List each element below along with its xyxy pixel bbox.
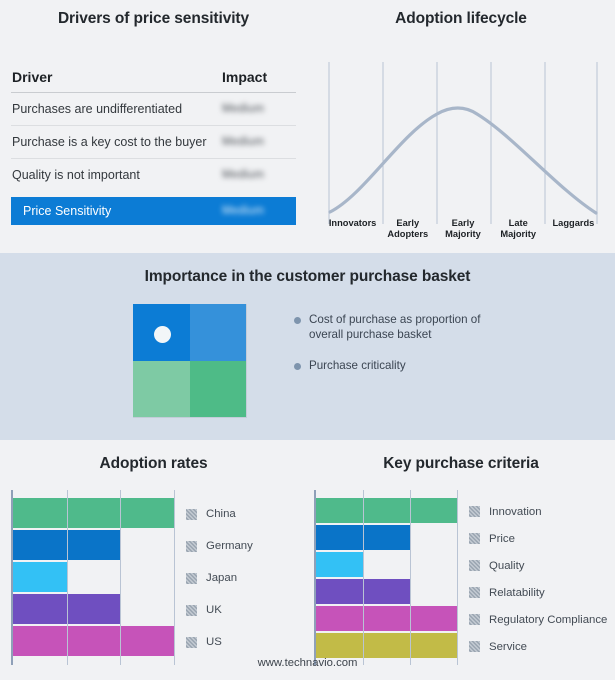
quadrant-top-right[interactable] — [190, 304, 247, 361]
adoption-rates-title: Adoption rates — [0, 455, 307, 473]
impact-value-redacted: Medium — [222, 205, 296, 217]
legend-row[interactable]: Regulatory Compliance — [469, 606, 607, 633]
lifecycle-segment-innovators: Innovators — [325, 218, 380, 242]
legend-row[interactable]: UK — [186, 594, 253, 626]
lifecycle-segment-early-majority: Early Majority — [435, 218, 490, 242]
legend-label: Service — [489, 641, 527, 653]
bar-group — [316, 498, 457, 660]
legend-row[interactable]: Quality — [469, 552, 607, 579]
footer-url: www.technavio.com — [0, 657, 615, 669]
drivers-panel: Drivers of price sensitivity Driver Impa… — [0, 0, 307, 253]
lifecycle-gridlines — [329, 62, 597, 224]
legend-label: UK — [206, 604, 222, 616]
legend-row[interactable]: US — [186, 626, 253, 658]
adoption-plot-area — [11, 490, 174, 665]
quadrant-matrix — [133, 304, 247, 418]
legend-swatch-icon — [469, 560, 480, 571]
impact-value-redacted: Medium — [222, 103, 296, 115]
legend-swatch-icon — [469, 614, 480, 625]
legend-swatch-icon — [186, 509, 197, 520]
gridline — [457, 490, 458, 665]
bar[interactable] — [13, 562, 67, 592]
bar[interactable] — [316, 606, 457, 631]
legend-swatch-icon — [186, 637, 197, 648]
bar[interactable] — [13, 498, 174, 528]
lifecycle-segment-laggards: Laggards — [546, 218, 601, 242]
lifecycle-chart: Innovators Early Adopters Early Majority… — [325, 62, 601, 242]
legend-row[interactable]: Service — [469, 633, 607, 660]
legend-row[interactable]: Price — [469, 525, 607, 552]
legend-swatch-icon — [469, 641, 480, 652]
bullet-icon — [294, 317, 301, 324]
legend-swatch-icon — [186, 605, 197, 616]
adoption-rates-panel: Adoption rates ChinaGermanyJapanUKUS — [0, 440, 307, 680]
legend-row[interactable]: Innovation — [469, 498, 607, 525]
legend-label: Cost of purchase as proportion of overal… — [309, 312, 514, 342]
table-row[interactable]: Quality is not important Medium — [11, 159, 296, 191]
driver-label: Purchase is a key cost to the buyer — [11, 135, 222, 149]
legend-label: US — [206, 636, 222, 648]
criteria-legend: InnovationPriceQualityRelatabilityRegula… — [469, 490, 607, 665]
drivers-table: Driver Impact Purchases are undifferenti… — [11, 62, 296, 225]
column-header-impact: Impact — [222, 69, 296, 85]
legend-label: Quality — [489, 560, 524, 572]
gridline — [67, 490, 68, 665]
table-row[interactable]: Purchases are undifferentiated Medium — [11, 93, 296, 126]
legend-label: Germany — [206, 540, 253, 552]
quadrant-bottom-right[interactable] — [190, 361, 247, 418]
position-marker-dot — [154, 326, 171, 343]
legend-swatch-icon — [469, 533, 480, 544]
legend-swatch-icon — [186, 541, 197, 552]
table-header-row: Driver Impact — [11, 62, 296, 93]
legend-swatch-icon — [186, 573, 197, 584]
bullet-icon — [294, 363, 301, 370]
drivers-title: Drivers of price sensitivity — [0, 10, 307, 28]
column-header-driver: Driver — [11, 69, 222, 85]
basket-legend: Cost of purchase as proportion of overal… — [294, 304, 514, 418]
key-purchase-criteria-panel: Key purchase criteria InnovationPriceQua… — [307, 440, 615, 680]
driver-label: Purchases are undifferentiated — [11, 102, 222, 116]
legend-label: Purchase criticality — [309, 358, 406, 373]
quadrant-top-left[interactable] — [133, 304, 190, 361]
gridline — [174, 490, 175, 665]
gridline — [363, 490, 364, 665]
lifecycle-segment-early-adopters: Early Adopters — [380, 218, 435, 242]
adoption-lifecycle-panel: Adoption lifecycle Innovators Early Adop… — [307, 0, 615, 253]
legend-item: Purchase criticality — [294, 358, 514, 373]
legend-label: Innovation — [489, 506, 542, 518]
legend-row[interactable]: Relatability — [469, 579, 607, 606]
lifecycle-segment-late-majority: Late Majority — [491, 218, 546, 242]
lifecycle-title: Adoption lifecycle — [307, 10, 615, 28]
legend-row[interactable]: Germany — [186, 530, 253, 562]
bar[interactable] — [316, 633, 457, 658]
bell-curve-path — [330, 108, 596, 213]
impact-value-redacted: Medium — [222, 136, 296, 148]
table-row-highlighted[interactable]: Price Sensitivity Medium — [11, 197, 296, 225]
adoption-legend: ChinaGermanyJapanUKUS — [186, 490, 253, 665]
lifecycle-labels: Innovators Early Adopters Early Majority… — [325, 218, 601, 242]
basket-body: Cost of purchase as proportion of overal… — [0, 304, 615, 418]
legend-swatch-icon — [469, 587, 480, 598]
criteria-chart: InnovationPriceQualityRelatabilityRegula… — [307, 490, 615, 665]
criteria-plot-area — [314, 490, 457, 665]
purchase-basket-panel: Importance in the customer purchase bask… — [0, 253, 615, 440]
bar[interactable] — [13, 626, 174, 656]
table-row[interactable]: Purchase is a key cost to the buyer Medi… — [11, 126, 296, 159]
driver-label-highlighted: Price Sensitivity — [22, 204, 222, 218]
legend-item: Cost of purchase as proportion of overal… — [294, 312, 514, 342]
criteria-title: Key purchase criteria — [307, 455, 615, 473]
bar-group — [13, 498, 174, 658]
driver-label: Quality is not important — [11, 168, 222, 182]
gridline — [410, 490, 411, 665]
adoption-rates-chart: ChinaGermanyJapanUKUS — [0, 490, 307, 665]
legend-label: China — [206, 508, 236, 520]
bar[interactable] — [316, 498, 457, 523]
legend-row[interactable]: Japan — [186, 562, 253, 594]
legend-swatch-icon — [469, 506, 480, 517]
legend-label: Relatability — [489, 587, 545, 599]
impact-value-redacted: Medium — [222, 169, 296, 181]
legend-label: Japan — [206, 572, 237, 584]
bar[interactable] — [316, 552, 363, 577]
legend-label: Price — [489, 533, 515, 545]
legend-row[interactable]: China — [186, 498, 253, 530]
lifecycle-curve-svg — [325, 62, 601, 242]
quadrant-bottom-left[interactable] — [133, 361, 190, 418]
legend-label: Regulatory Compliance — [489, 614, 607, 626]
gridline — [120, 490, 121, 665]
basket-title: Importance in the customer purchase bask… — [0, 268, 615, 286]
